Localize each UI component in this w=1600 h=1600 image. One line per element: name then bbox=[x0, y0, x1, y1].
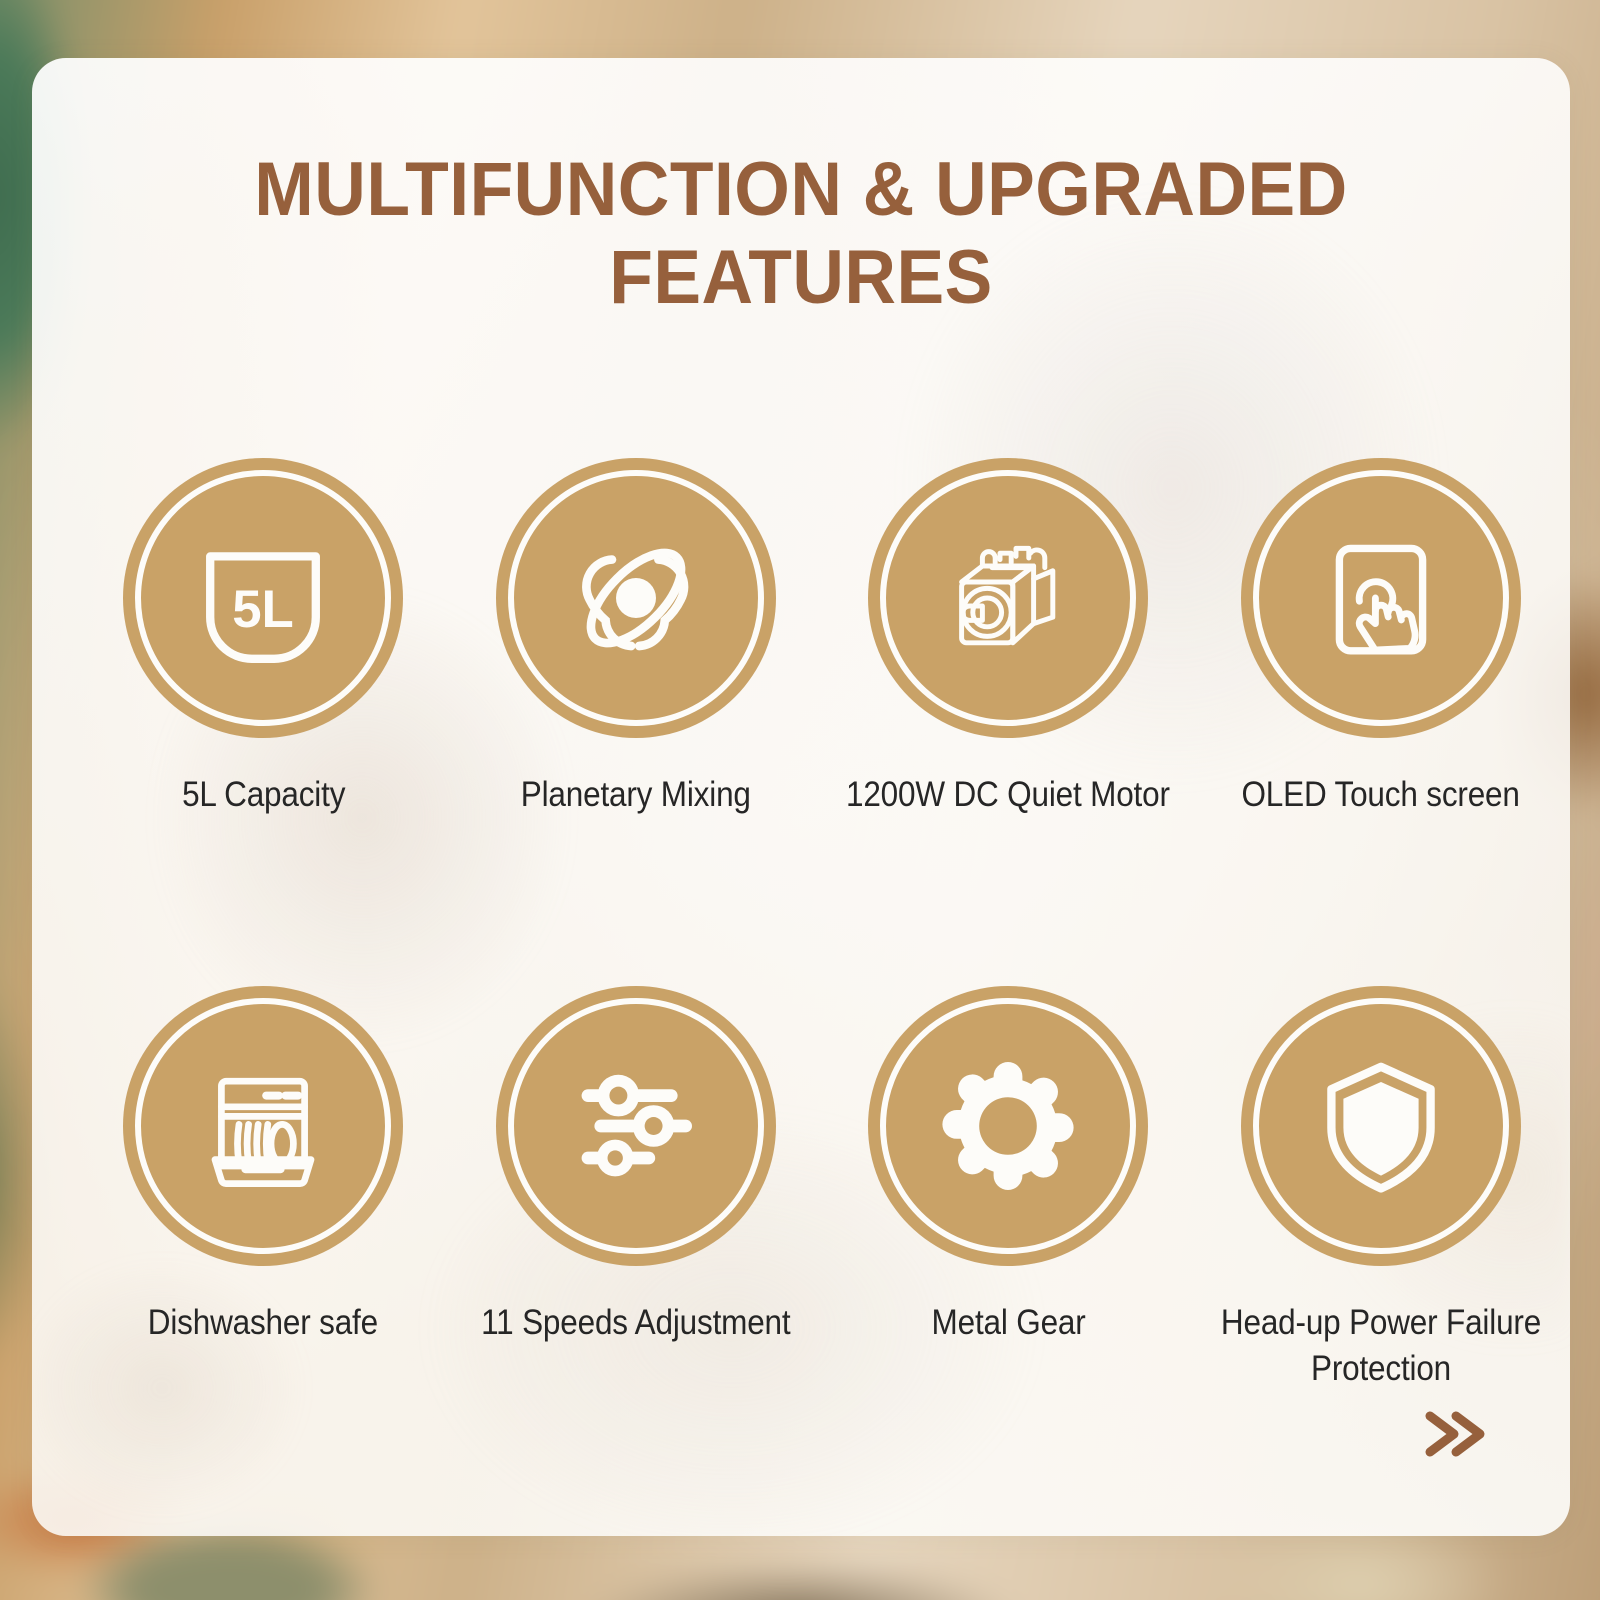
feature-label-oled: OLED Touch screen bbox=[1242, 772, 1520, 818]
page-title-line-2: FEATURES bbox=[191, 234, 1411, 322]
icon-badge-dishwasher bbox=[123, 986, 403, 1266]
page-title: MULTIFUNCTION & UPGRADED FEATURES bbox=[191, 146, 1411, 322]
dc-motor-icon bbox=[928, 518, 1088, 678]
double-chevron-right-icon bbox=[1412, 1402, 1492, 1466]
shield-icon bbox=[1301, 1046, 1461, 1206]
page-title-line-1: MULTIFUNCTION & UPGRADED bbox=[191, 146, 1411, 234]
next-button[interactable] bbox=[1412, 1402, 1492, 1466]
bowl-5l-icon: 5L bbox=[183, 518, 343, 678]
feature-card: MULTIFUNCTION & UPGRADED FEATURES 5L 5L … bbox=[32, 58, 1570, 1536]
icon-badge-speeds bbox=[496, 986, 776, 1266]
icon-badge-planetary bbox=[496, 458, 776, 738]
feature-item-planetary[interactable]: Planetary Mixing bbox=[450, 458, 823, 818]
icon-badge-capacity: 5L bbox=[123, 458, 403, 738]
feature-grid: 5L 5L Capacity Pla bbox=[77, 458, 1567, 1393]
feature-label-metal-gear: Metal Gear bbox=[931, 1300, 1085, 1346]
atom-orbit-icon bbox=[556, 518, 716, 678]
feature-item-metal-gear[interactable]: Metal Gear bbox=[822, 986, 1195, 1392]
feature-item-protection[interactable]: Head-up Power Failure Protection bbox=[1195, 986, 1568, 1392]
feature-label-dishwasher: Dishwasher safe bbox=[148, 1300, 378, 1346]
capacity-badge-text: 5L bbox=[232, 580, 294, 639]
feature-label-motor: 1200W DC Quiet Motor bbox=[846, 772, 1170, 818]
feature-item-oled[interactable]: OLED Touch screen bbox=[1195, 458, 1568, 818]
gear-icon bbox=[928, 1046, 1088, 1206]
sliders-icon bbox=[556, 1046, 716, 1206]
icon-badge-oled bbox=[1241, 458, 1521, 738]
feature-label-capacity: 5L Capacity bbox=[182, 772, 345, 818]
feature-item-dishwasher[interactable]: Dishwasher safe bbox=[77, 986, 450, 1392]
icon-badge-motor bbox=[868, 458, 1148, 738]
icon-badge-metal-gear bbox=[868, 986, 1148, 1266]
feature-item-capacity[interactable]: 5L 5L Capacity bbox=[77, 458, 450, 818]
feature-item-motor[interactable]: 1200W DC Quiet Motor bbox=[822, 458, 1195, 818]
feature-item-speeds[interactable]: 11 Speeds Adjustment bbox=[450, 986, 823, 1392]
dishwasher-icon bbox=[183, 1046, 343, 1206]
feature-label-protection: Head-up Power Failure Protection bbox=[1214, 1300, 1547, 1392]
feature-label-planetary: Planetary Mixing bbox=[521, 772, 751, 818]
page-root: MULTIFUNCTION & UPGRADED FEATURES 5L 5L … bbox=[0, 0, 1600, 1600]
feature-label-speeds: 11 Speeds Adjustment bbox=[481, 1300, 790, 1346]
touchscreen-hand-icon bbox=[1301, 518, 1461, 678]
icon-badge-protection bbox=[1241, 986, 1521, 1266]
